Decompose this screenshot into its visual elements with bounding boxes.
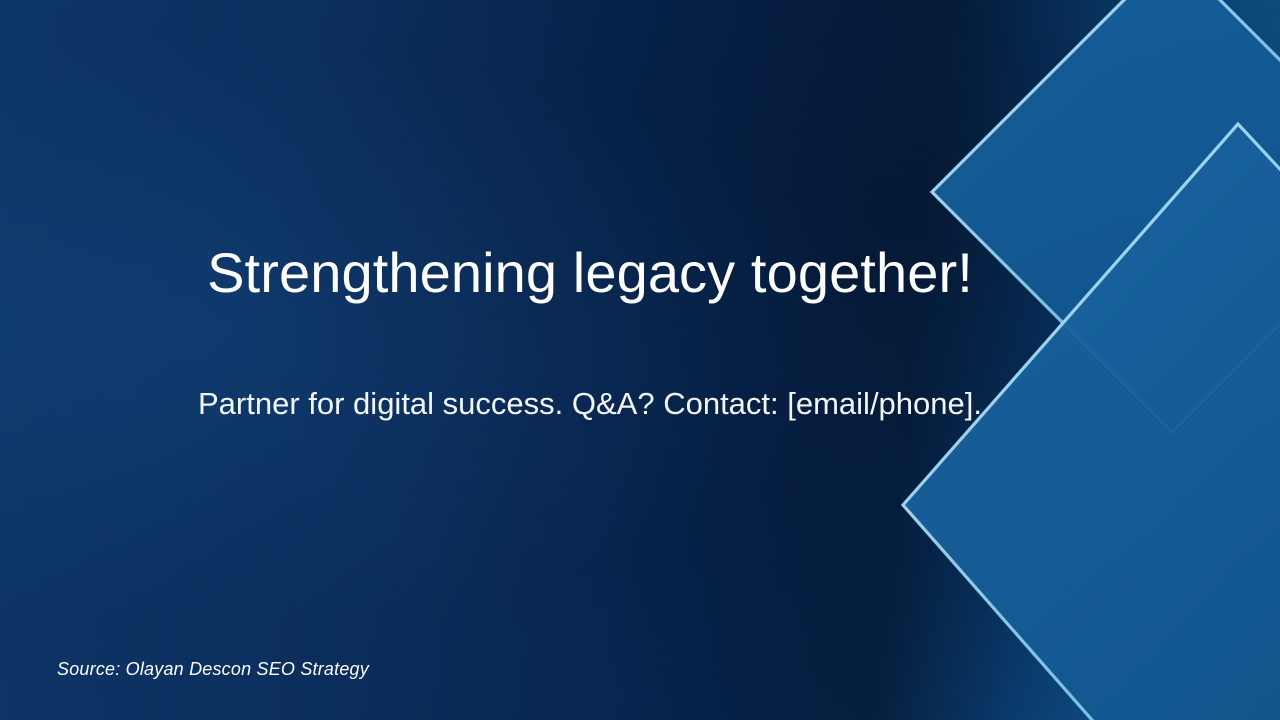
slide-content: Strengthening legacy together! Partner f…: [0, 0, 1280, 720]
presentation-slide: Strengthening legacy together! Partner f…: [0, 0, 1280, 720]
slide-title: Strengthening legacy together!: [90, 243, 1090, 303]
slide-subtitle: Partner for digital success. Q&A? Contac…: [90, 385, 1090, 422]
source-note: Source: Olayan Descon SEO Strategy: [57, 658, 369, 681]
